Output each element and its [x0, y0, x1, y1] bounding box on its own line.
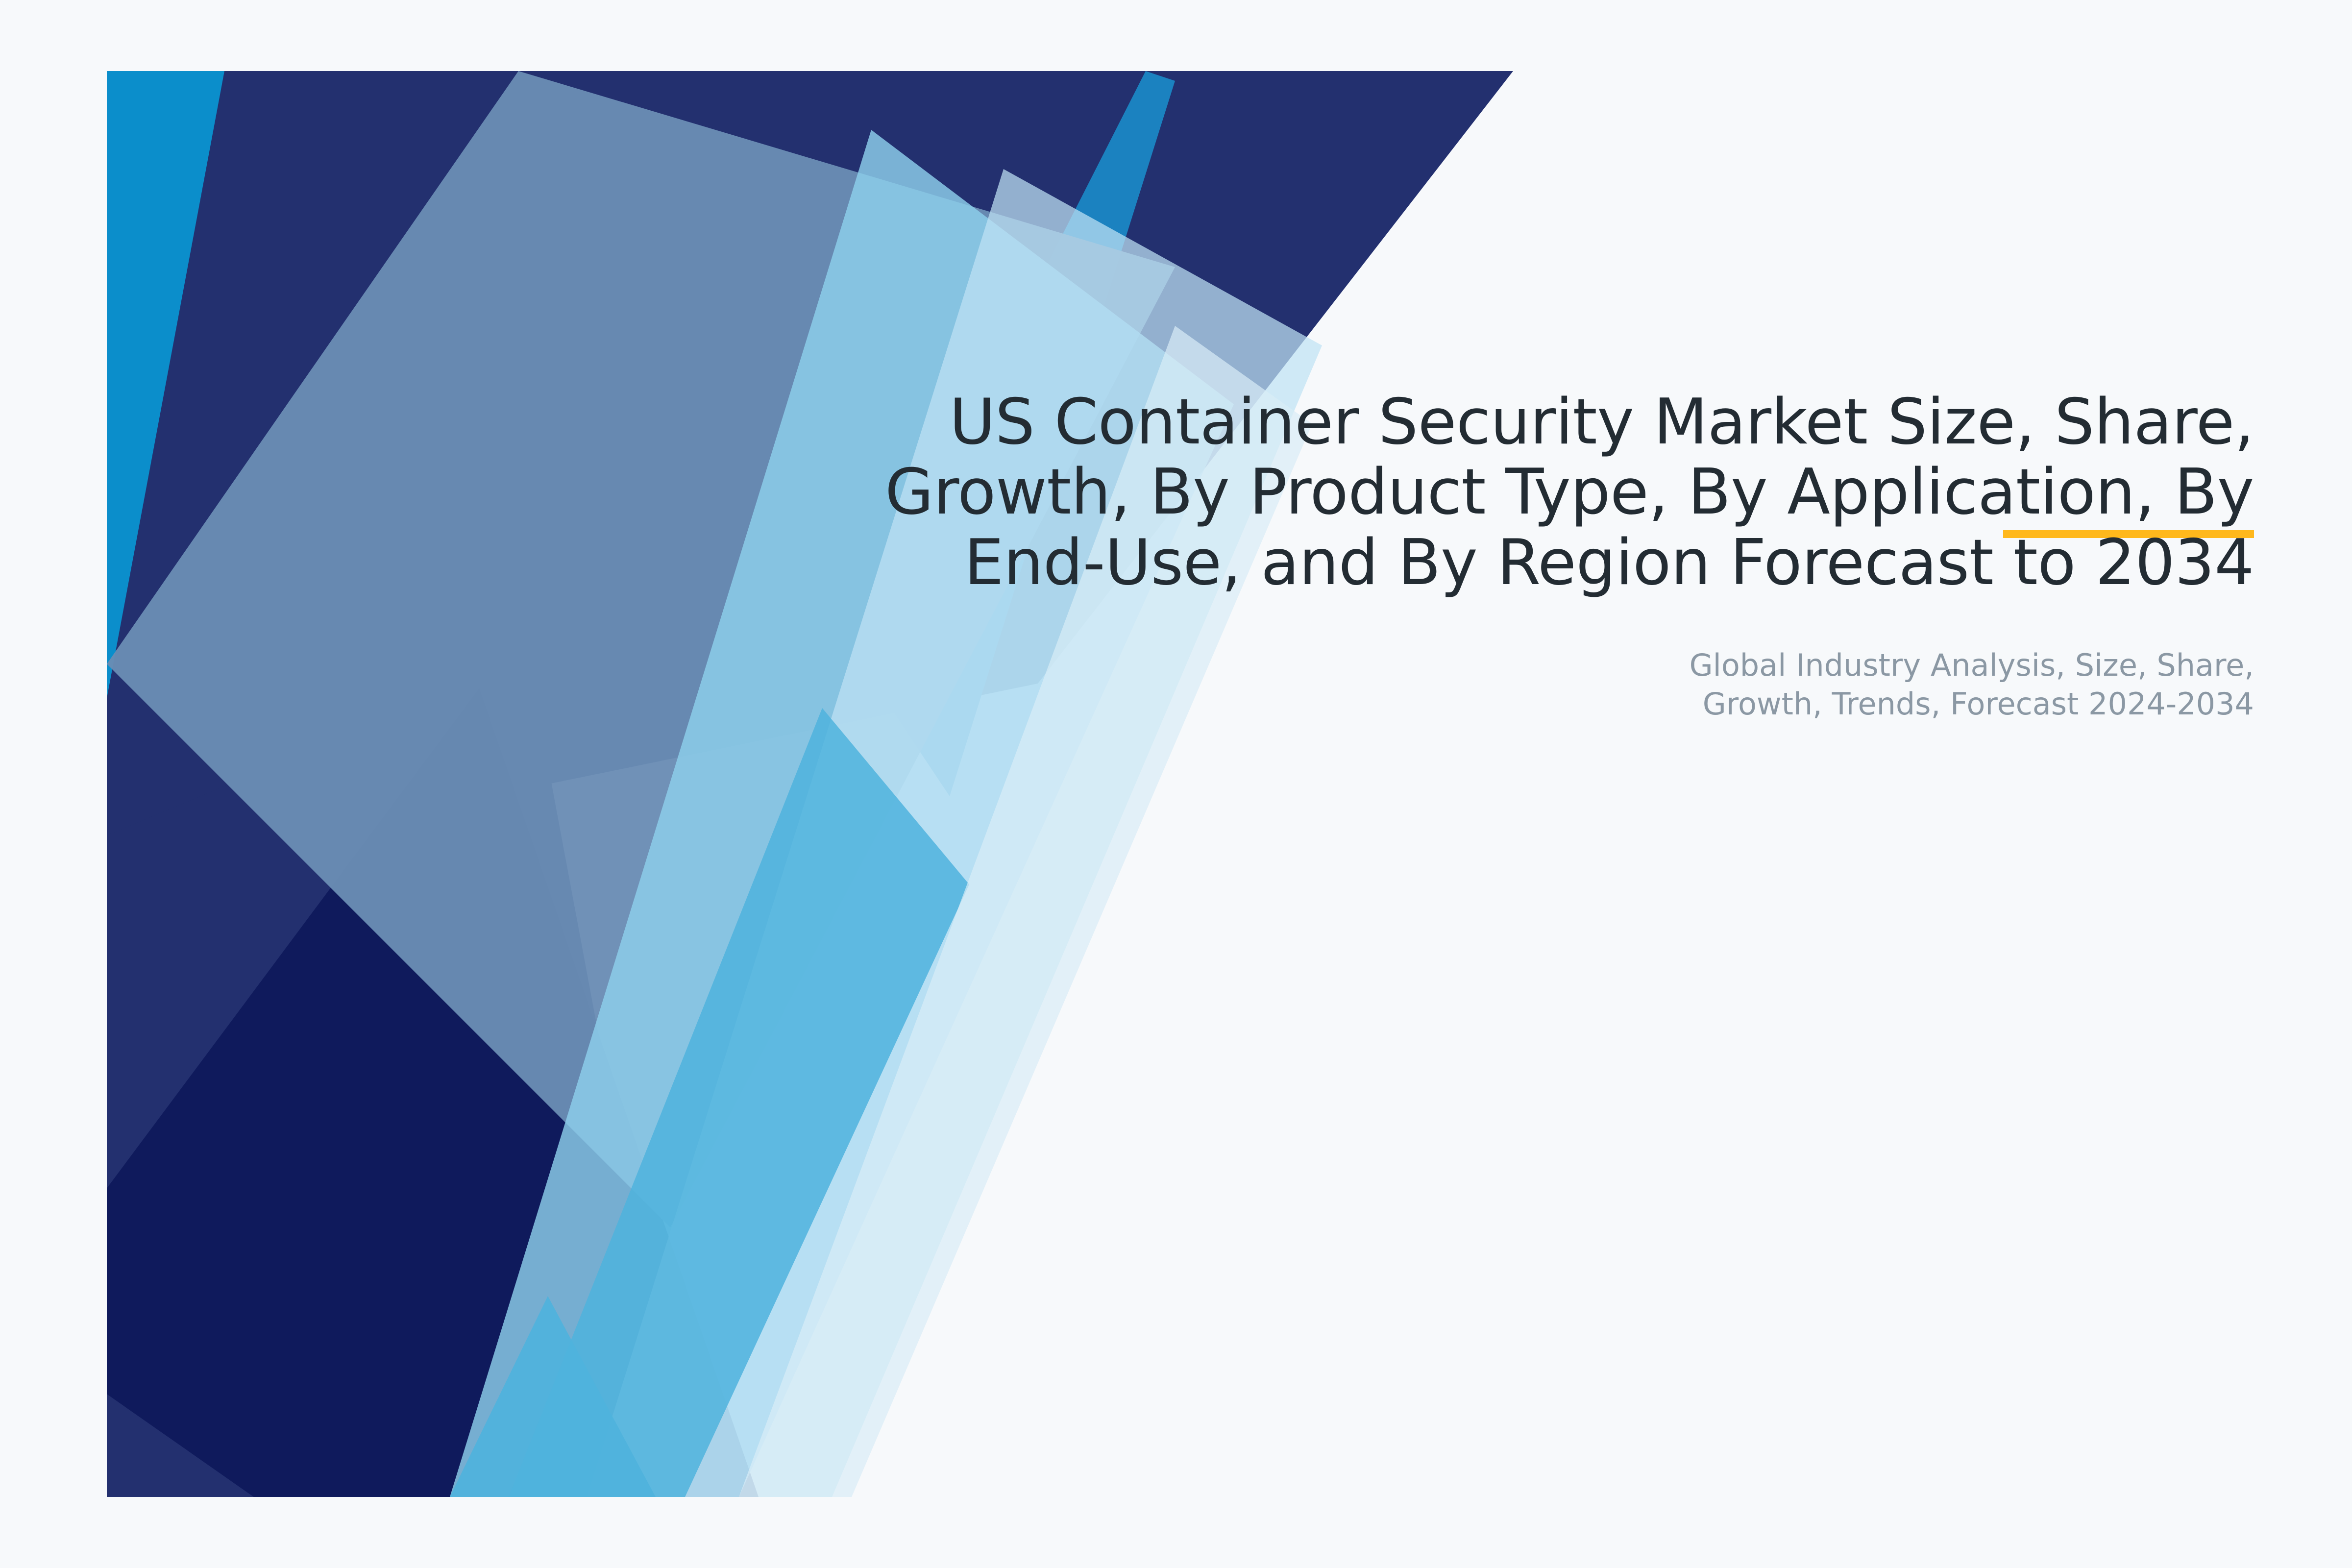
- report-subtitle: Global Industry Analysis, Size, Share, G…: [784, 646, 2254, 724]
- subtitle-line-2: Growth, Trends, Forecast 2024-2034: [784, 685, 2254, 723]
- report-title-text: US Container Security Market Size, Share…: [735, 387, 2254, 598]
- abstract-geometric-banner: [107, 71, 1513, 1497]
- page-title: US Container Security Market Size, Share…: [735, 387, 2254, 598]
- subtitle-line-1: Global Industry Analysis, Size, Share,: [784, 646, 2254, 685]
- banner-shapes: [107, 71, 1513, 1497]
- report-cover-page: US Container Security Market Size, Share…: [0, 0, 2352, 1568]
